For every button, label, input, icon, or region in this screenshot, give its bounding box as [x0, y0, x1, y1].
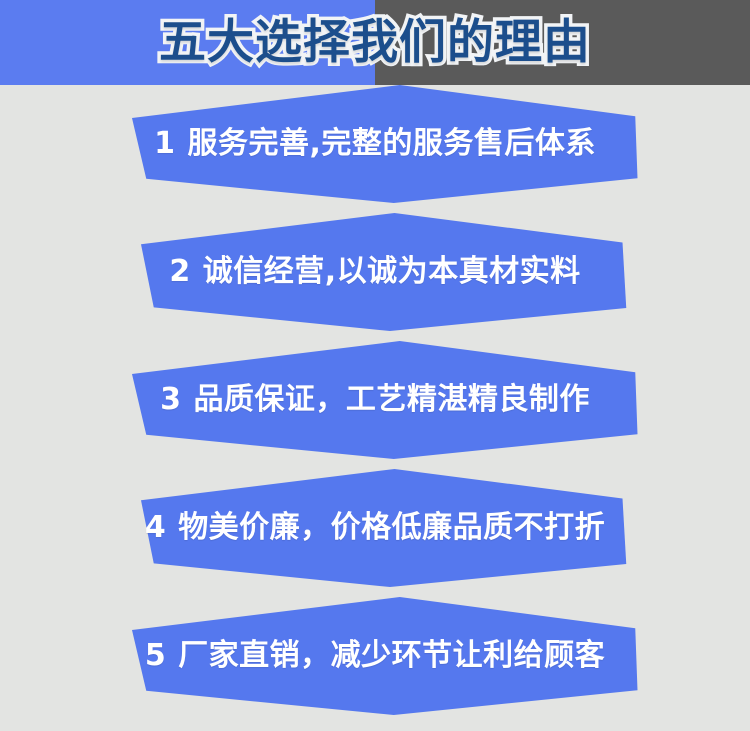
- reason-number-5: 5: [145, 641, 166, 671]
- page-title: 五大选择我们的理由: [0, 0, 750, 85]
- reason-label-2: 诚信经营,以诚为本真材实料: [203, 257, 581, 287]
- reason-text-2: 2 诚信经营,以诚为本真材实料: [0, 213, 750, 331]
- reason-item-3: 3 品质保证，工艺精湛精良制作: [0, 341, 750, 459]
- reason-label-5: 厂家直销，减少环节让利给顾客: [178, 641, 605, 671]
- reason-item-5: 5 厂家直销，减少环节让利给顾客: [0, 597, 750, 715]
- reason-number-1: 1: [154, 129, 175, 159]
- reason-number-2: 2: [169, 257, 190, 287]
- reason-label-4: 物美价廉，价格低廉品质不打折: [178, 513, 605, 543]
- reason-item-2: 2 诚信经营,以诚为本真材实料: [0, 213, 750, 331]
- reason-text-5: 5 厂家直销，减少环节让利给顾客: [0, 597, 750, 715]
- reason-number-3: 3: [160, 385, 181, 415]
- reason-label-1: 服务完善,完整的服务售后体系: [187, 129, 595, 159]
- reason-text-1: 1 服务完善,完整的服务售后体系: [0, 85, 750, 203]
- reason-number-4: 4: [145, 513, 166, 543]
- page-header: 五大选择我们的理由: [0, 0, 750, 85]
- reason-item-4: 4 物美价廉，价格低廉品质不打折: [0, 469, 750, 587]
- reason-label-3: 品质保证，工艺精湛精良制作: [193, 385, 590, 415]
- reason-text-4: 4 物美价廉，价格低廉品质不打折: [0, 469, 750, 587]
- reason-text-3: 3 品质保证，工艺精湛精良制作: [0, 341, 750, 459]
- reason-list: 1 服务完善,完整的服务售后体系 2 诚信经营,以诚为本真材实料 3 品质保证，…: [0, 85, 750, 731]
- reason-item-1: 1 服务完善,完整的服务售后体系: [0, 85, 750, 203]
